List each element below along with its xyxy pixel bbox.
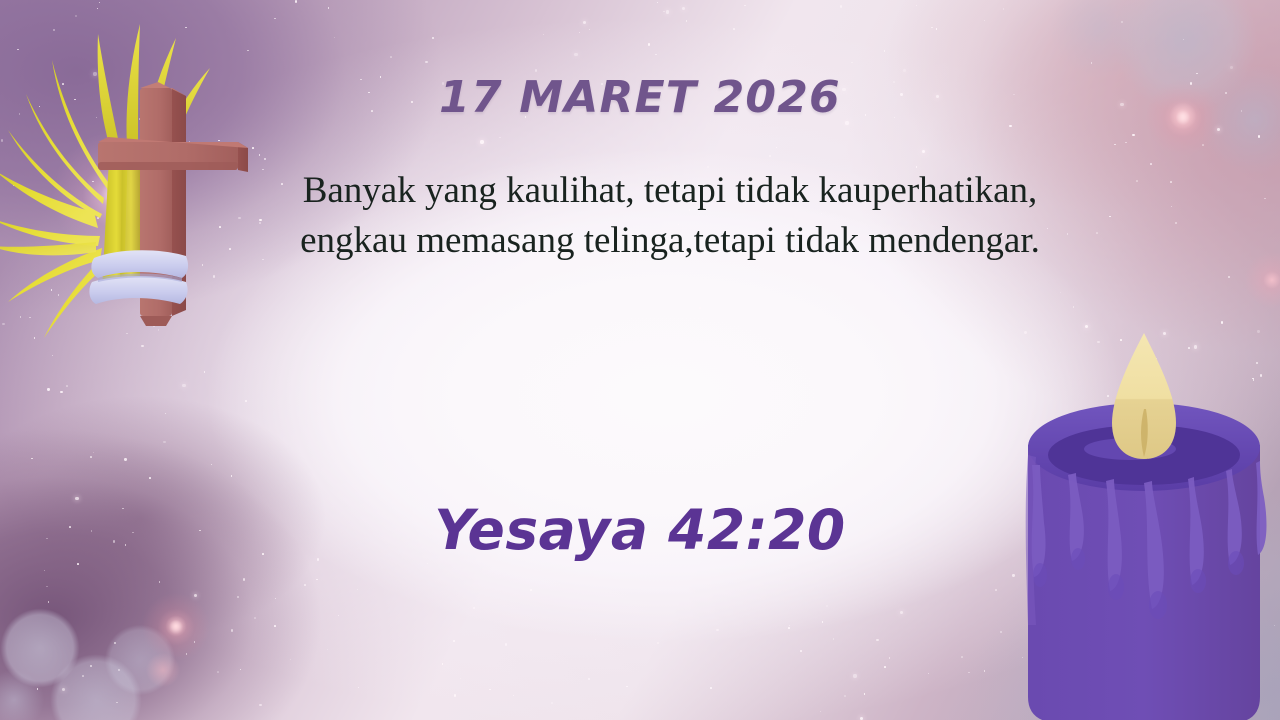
date-title: 17 MARET 2026 xyxy=(240,72,1040,123)
verse-text-block: 17 MARET 2026 Banyak yang kaulihat, teta… xyxy=(0,0,1280,720)
verse-body-text: Banyak yang kaulihat, tetapi tidak kaupe… xyxy=(290,166,1050,266)
verse-card-canvas: 17 MARET 2026 Banyak yang kaulihat, teta… xyxy=(0,0,1280,720)
verse-reference: Yesaya 42:20 xyxy=(240,498,1040,562)
